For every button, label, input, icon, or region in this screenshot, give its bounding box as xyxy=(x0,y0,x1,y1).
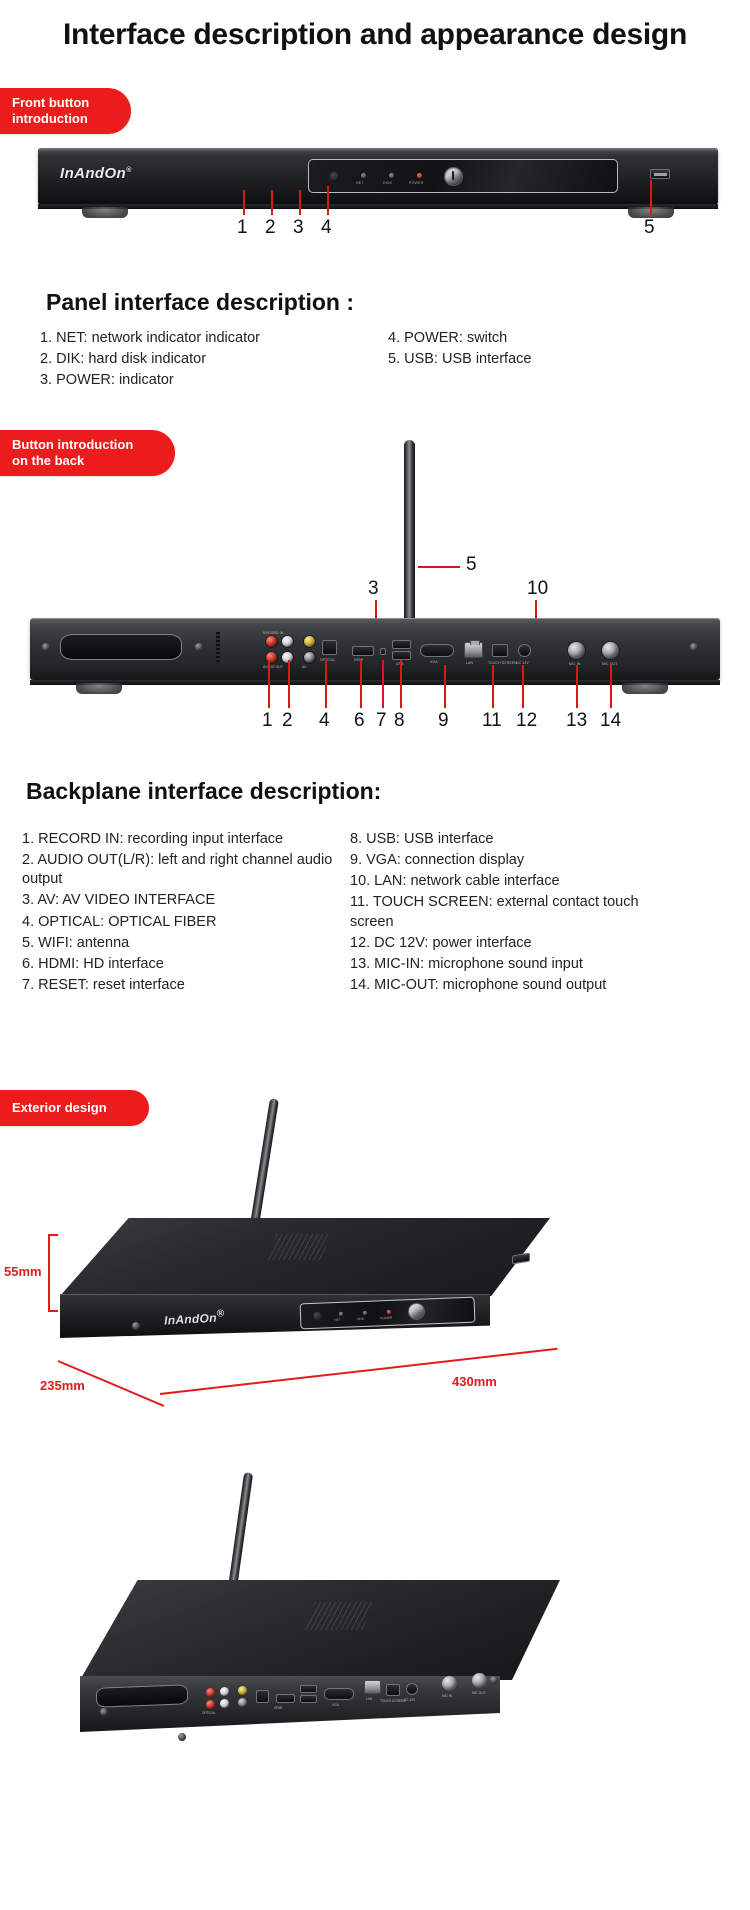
height-bracket xyxy=(48,1234,58,1312)
backplane-section-heading: Backplane interface description: xyxy=(26,778,381,805)
dimension-height-label: 55mm xyxy=(4,1264,42,1279)
backplane-item-10: 10. LAN: network cable interface xyxy=(350,872,680,891)
iso-ir-sensor-icon xyxy=(313,1312,322,1321)
iso-lan-port xyxy=(364,1680,381,1694)
page-title: Interface description and appearance des… xyxy=(0,18,750,52)
panel-item-3: 3. POWER: indicator xyxy=(40,370,370,391)
iso-rca-av xyxy=(238,1686,247,1695)
leader-line-5 xyxy=(650,180,652,215)
iso-optical-label: OPTICAL xyxy=(202,1711,216,1715)
callout-rear-num-6: 6 xyxy=(354,710,365,732)
reset-port xyxy=(380,648,386,655)
backplane-item-5: 5. WIFI: antenna xyxy=(22,934,342,953)
backplane-item-1: 1. RECORD IN: recording input interface xyxy=(22,830,342,849)
power-led-label: POWER xyxy=(409,181,424,185)
callout-rear-num-13: 13 xyxy=(566,710,587,732)
iso-scart-connector xyxy=(96,1684,189,1708)
usb-port-rear-1 xyxy=(392,640,411,649)
dc-power-port xyxy=(518,644,531,657)
iso-dc-label: DC 12V xyxy=(404,1698,415,1702)
iso-front-screw xyxy=(132,1322,140,1330)
audio-out-label: AUDIO OUT xyxy=(263,665,283,669)
callout-front-2: 2 xyxy=(265,217,276,239)
rear-chassis: RECORD IN AUDIO OUT AV OPTICAL HDMI USB … xyxy=(30,618,720,680)
leader-rear-13 xyxy=(576,665,578,708)
iso-mic-out-label: MIC OUT xyxy=(472,1691,485,1695)
mic-in-port xyxy=(568,642,585,659)
dimension-depth-label: 235mm xyxy=(40,1378,85,1393)
panel-item-5: 5. USB: USB interface xyxy=(388,349,688,370)
product-spec-page: Interface description and appearance des… xyxy=(0,0,750,1910)
backplane-item-2: 2. AUDIO OUT(L/R): left and right channe… xyxy=(22,851,342,889)
front-chassis: InAndOn® NET DISK POWER xyxy=(38,148,718,204)
wifi-antenna-iso-rear xyxy=(228,1472,253,1590)
badge-back-line2: on the back xyxy=(12,453,133,469)
iso-mic-in-port xyxy=(442,1676,457,1691)
backplane-list-right: 8. USB: USB interface 9. VGA: connection… xyxy=(350,830,680,997)
callout-rear-num-14: 14 xyxy=(600,710,621,732)
leader-rear-8 xyxy=(400,660,402,708)
callout-rear-num-11: 11 xyxy=(482,710,502,732)
panel-item-1: 1. NET: network indicator indicator xyxy=(40,328,370,349)
badge-front-button-introduction: Front button introduction xyxy=(0,88,131,134)
iso-rear-screw-left xyxy=(100,1708,108,1716)
badge-back-button-introduction: Button introduction on the back xyxy=(0,430,175,476)
callout-front-3: 3 xyxy=(293,217,304,239)
iso-mic-in-label: MIC IN xyxy=(442,1694,452,1698)
rear-foot-left xyxy=(76,683,122,694)
iso-front-top-panel xyxy=(60,1218,550,1296)
iso-disk-led-icon xyxy=(363,1311,367,1315)
callout-rear-3: 3 xyxy=(368,578,379,600)
backplane-item-8: 8. USB: USB interface xyxy=(350,830,680,849)
iso-hdmi-label: HDMI xyxy=(274,1706,282,1710)
iso-front-vent-grille xyxy=(267,1234,330,1260)
iso-net-led-label: NET xyxy=(334,1318,341,1322)
badge-front-line1: Front button xyxy=(12,95,89,111)
disk-led-icon xyxy=(389,173,394,178)
iso-vga-label: VGA xyxy=(332,1703,339,1707)
ir-sensor-icon xyxy=(329,171,340,182)
panel-section-heading: Panel interface description : xyxy=(46,289,354,316)
rca-record-in-right xyxy=(282,636,293,647)
callout-rear-num-4: 4 xyxy=(319,710,330,732)
disk-led-label: DISK xyxy=(383,181,392,185)
iso-usb-port xyxy=(512,1253,530,1265)
callout-front-5: 5 xyxy=(644,217,655,239)
device-exterior-front-iso: InAndOn® NET DISK POWER xyxy=(60,1218,550,1368)
mic-out-port xyxy=(602,642,619,659)
rca-record-in-left xyxy=(266,636,277,647)
leader-rear-6 xyxy=(360,660,362,708)
av-label: AV xyxy=(302,665,307,669)
iso-optical-port xyxy=(256,1690,269,1703)
optical-port xyxy=(322,640,337,655)
front-foot-left xyxy=(82,207,128,218)
panel-list-left: 1. NET: network indicator indicator 2. D… xyxy=(40,328,370,391)
panel-item-2: 2. DIK: hard disk indicator xyxy=(40,349,370,370)
iso-hdmi-port xyxy=(276,1694,295,1703)
dimension-width-label: 430mm xyxy=(452,1374,497,1389)
front-glass-bezel: NET DISK POWER xyxy=(308,159,618,193)
optical-label: OPTICAL xyxy=(320,658,336,662)
usb-port-front xyxy=(650,169,670,179)
lan-port xyxy=(464,642,483,658)
rear-base-line xyxy=(30,680,720,685)
wifi-antenna-iso-front xyxy=(250,1098,279,1226)
touch-screen-port xyxy=(492,644,508,657)
leader-rear-11 xyxy=(492,665,494,708)
iso-lan-label: LAN xyxy=(366,1697,372,1701)
iso-power-led-icon xyxy=(387,1310,391,1314)
front-top-edge xyxy=(38,148,718,152)
iso-rear-vent-grille xyxy=(305,1602,373,1630)
record-in-label: RECORD IN xyxy=(263,631,283,635)
power-led-icon xyxy=(417,173,422,178)
leader-rear-7 xyxy=(382,660,384,708)
callout-rear-num-8: 8 xyxy=(394,710,405,732)
scart-connector xyxy=(60,634,182,660)
rear-foot-right xyxy=(622,683,668,694)
net-led-icon xyxy=(361,173,366,178)
usb-port-rear-2 xyxy=(392,651,411,660)
badge-exterior-label: Exterior design xyxy=(12,1100,107,1115)
leader-rear-1 xyxy=(268,660,270,708)
backplane-item-9: 9. VGA: connection display xyxy=(350,851,680,870)
backplane-item-3: 3. AV: AV VIDEO INTERFACE xyxy=(22,891,342,910)
vga-label: VGA xyxy=(430,660,438,664)
rca-av-video xyxy=(304,636,315,647)
callout-rear-num-9: 9 xyxy=(438,710,449,732)
callout-rear-num-12: 12 xyxy=(516,710,537,732)
callout-front-4: 4 xyxy=(321,217,332,239)
backplane-list-left: 1. RECORD IN: recording input interface … xyxy=(22,830,342,997)
callout-rear-10: 10 xyxy=(527,578,548,600)
leader-rear-2 xyxy=(288,660,290,708)
rear-screw-mid xyxy=(195,643,203,651)
iso-vga-port xyxy=(324,1688,354,1700)
iso-usb-port-1 xyxy=(300,1685,317,1693)
brand-logo-iso-front: InAndOn® xyxy=(164,1308,225,1327)
backplane-item-11: 11. TOUCH SCREEN: external contact touch… xyxy=(350,893,680,931)
net-led-label: NET xyxy=(356,181,364,185)
backplane-item-6: 6. HDMI: HD interface xyxy=(22,955,342,974)
backplane-item-12: 12. DC 12V: power interface xyxy=(350,934,680,953)
leader-line-3 xyxy=(299,190,301,215)
iso-mic-out-port xyxy=(472,1673,487,1688)
leader-line-2 xyxy=(271,190,273,215)
iso-dc-port xyxy=(406,1683,418,1695)
iso-touch-label: TOUCH SCREEN xyxy=(380,1699,405,1703)
iso-rca-record-right xyxy=(220,1687,229,1696)
backplane-item-14: 14. MIC-OUT: microphone sound output xyxy=(350,976,680,995)
leader-rear-12 xyxy=(522,665,524,708)
leader-rear-4 xyxy=(325,660,327,708)
callout-rear-5: 5 xyxy=(466,554,477,576)
callout-front-1: 1 xyxy=(237,217,248,239)
rca-av-aux xyxy=(304,652,315,663)
leader-line-1 xyxy=(243,190,245,215)
leader-line-4 xyxy=(327,186,329,215)
iso-rca-av-aux xyxy=(238,1698,247,1707)
badge-front-line2: introduction xyxy=(12,111,89,127)
iso-net-led-icon xyxy=(339,1312,343,1316)
mic-in-label: MIC IN xyxy=(569,662,580,666)
iso-rear-screw-right xyxy=(490,1676,498,1684)
leader-line-antenna-5 xyxy=(418,566,460,568)
front-base-line xyxy=(38,204,718,209)
iso-rca-record-left xyxy=(206,1688,215,1697)
rear-vent xyxy=(216,632,220,662)
iso-power-led-label: POWER xyxy=(380,1316,392,1320)
lan-label: LAN xyxy=(466,661,473,665)
rear-screw-left xyxy=(42,643,50,651)
iso-touch-screen-port xyxy=(386,1684,400,1696)
backplane-item-7: 7. RESET: reset interface xyxy=(22,976,342,995)
leader-rear-9 xyxy=(444,665,446,708)
panel-item-4: 4. POWER: switch xyxy=(388,328,688,349)
iso-disk-led-label: DISK xyxy=(357,1317,365,1321)
vga-port xyxy=(420,644,454,657)
callout-rear-num-2: 2 xyxy=(282,710,293,732)
badge-back-line1: Button introduction xyxy=(12,437,133,453)
iso-rear-screw-bottom xyxy=(178,1733,186,1741)
backplane-item-4: 4. OPTICAL: OPTICAL FIBER xyxy=(22,913,342,932)
device-exterior-rear-iso: OPTICAL HDMI VGA LAN TOUCH SCREEN DC 12V… xyxy=(60,1580,560,1800)
iso-rca-audio-right xyxy=(220,1699,229,1708)
power-switch-button[interactable] xyxy=(445,168,462,185)
hdmi-port xyxy=(352,646,374,656)
callout-rear-num-1: 1 xyxy=(262,710,273,732)
iso-rear-top-panel xyxy=(80,1580,560,1680)
leader-rear-14 xyxy=(610,665,612,708)
iso-rca-audio-left xyxy=(206,1700,215,1709)
backplane-item-13: 13. MIC-IN: microphone sound input xyxy=(350,955,680,974)
panel-list-right: 4. POWER: switch 5. USB: USB interface xyxy=(388,328,688,370)
device-front-view: InAndOn® NET DISK POWER xyxy=(38,148,718,220)
rear-screw-right xyxy=(690,643,698,651)
badge-exterior-design: Exterior design xyxy=(0,1090,149,1126)
iso-power-switch-button[interactable] xyxy=(409,1304,425,1320)
brand-logo-front: InAndOn® xyxy=(60,165,132,182)
device-rear-view: RECORD IN AUDIO OUT AV OPTICAL HDMI USB … xyxy=(30,618,720,700)
iso-usb-port-2 xyxy=(300,1695,317,1703)
wifi-antenna xyxy=(404,440,415,625)
callout-rear-num-7: 7 xyxy=(376,710,387,732)
